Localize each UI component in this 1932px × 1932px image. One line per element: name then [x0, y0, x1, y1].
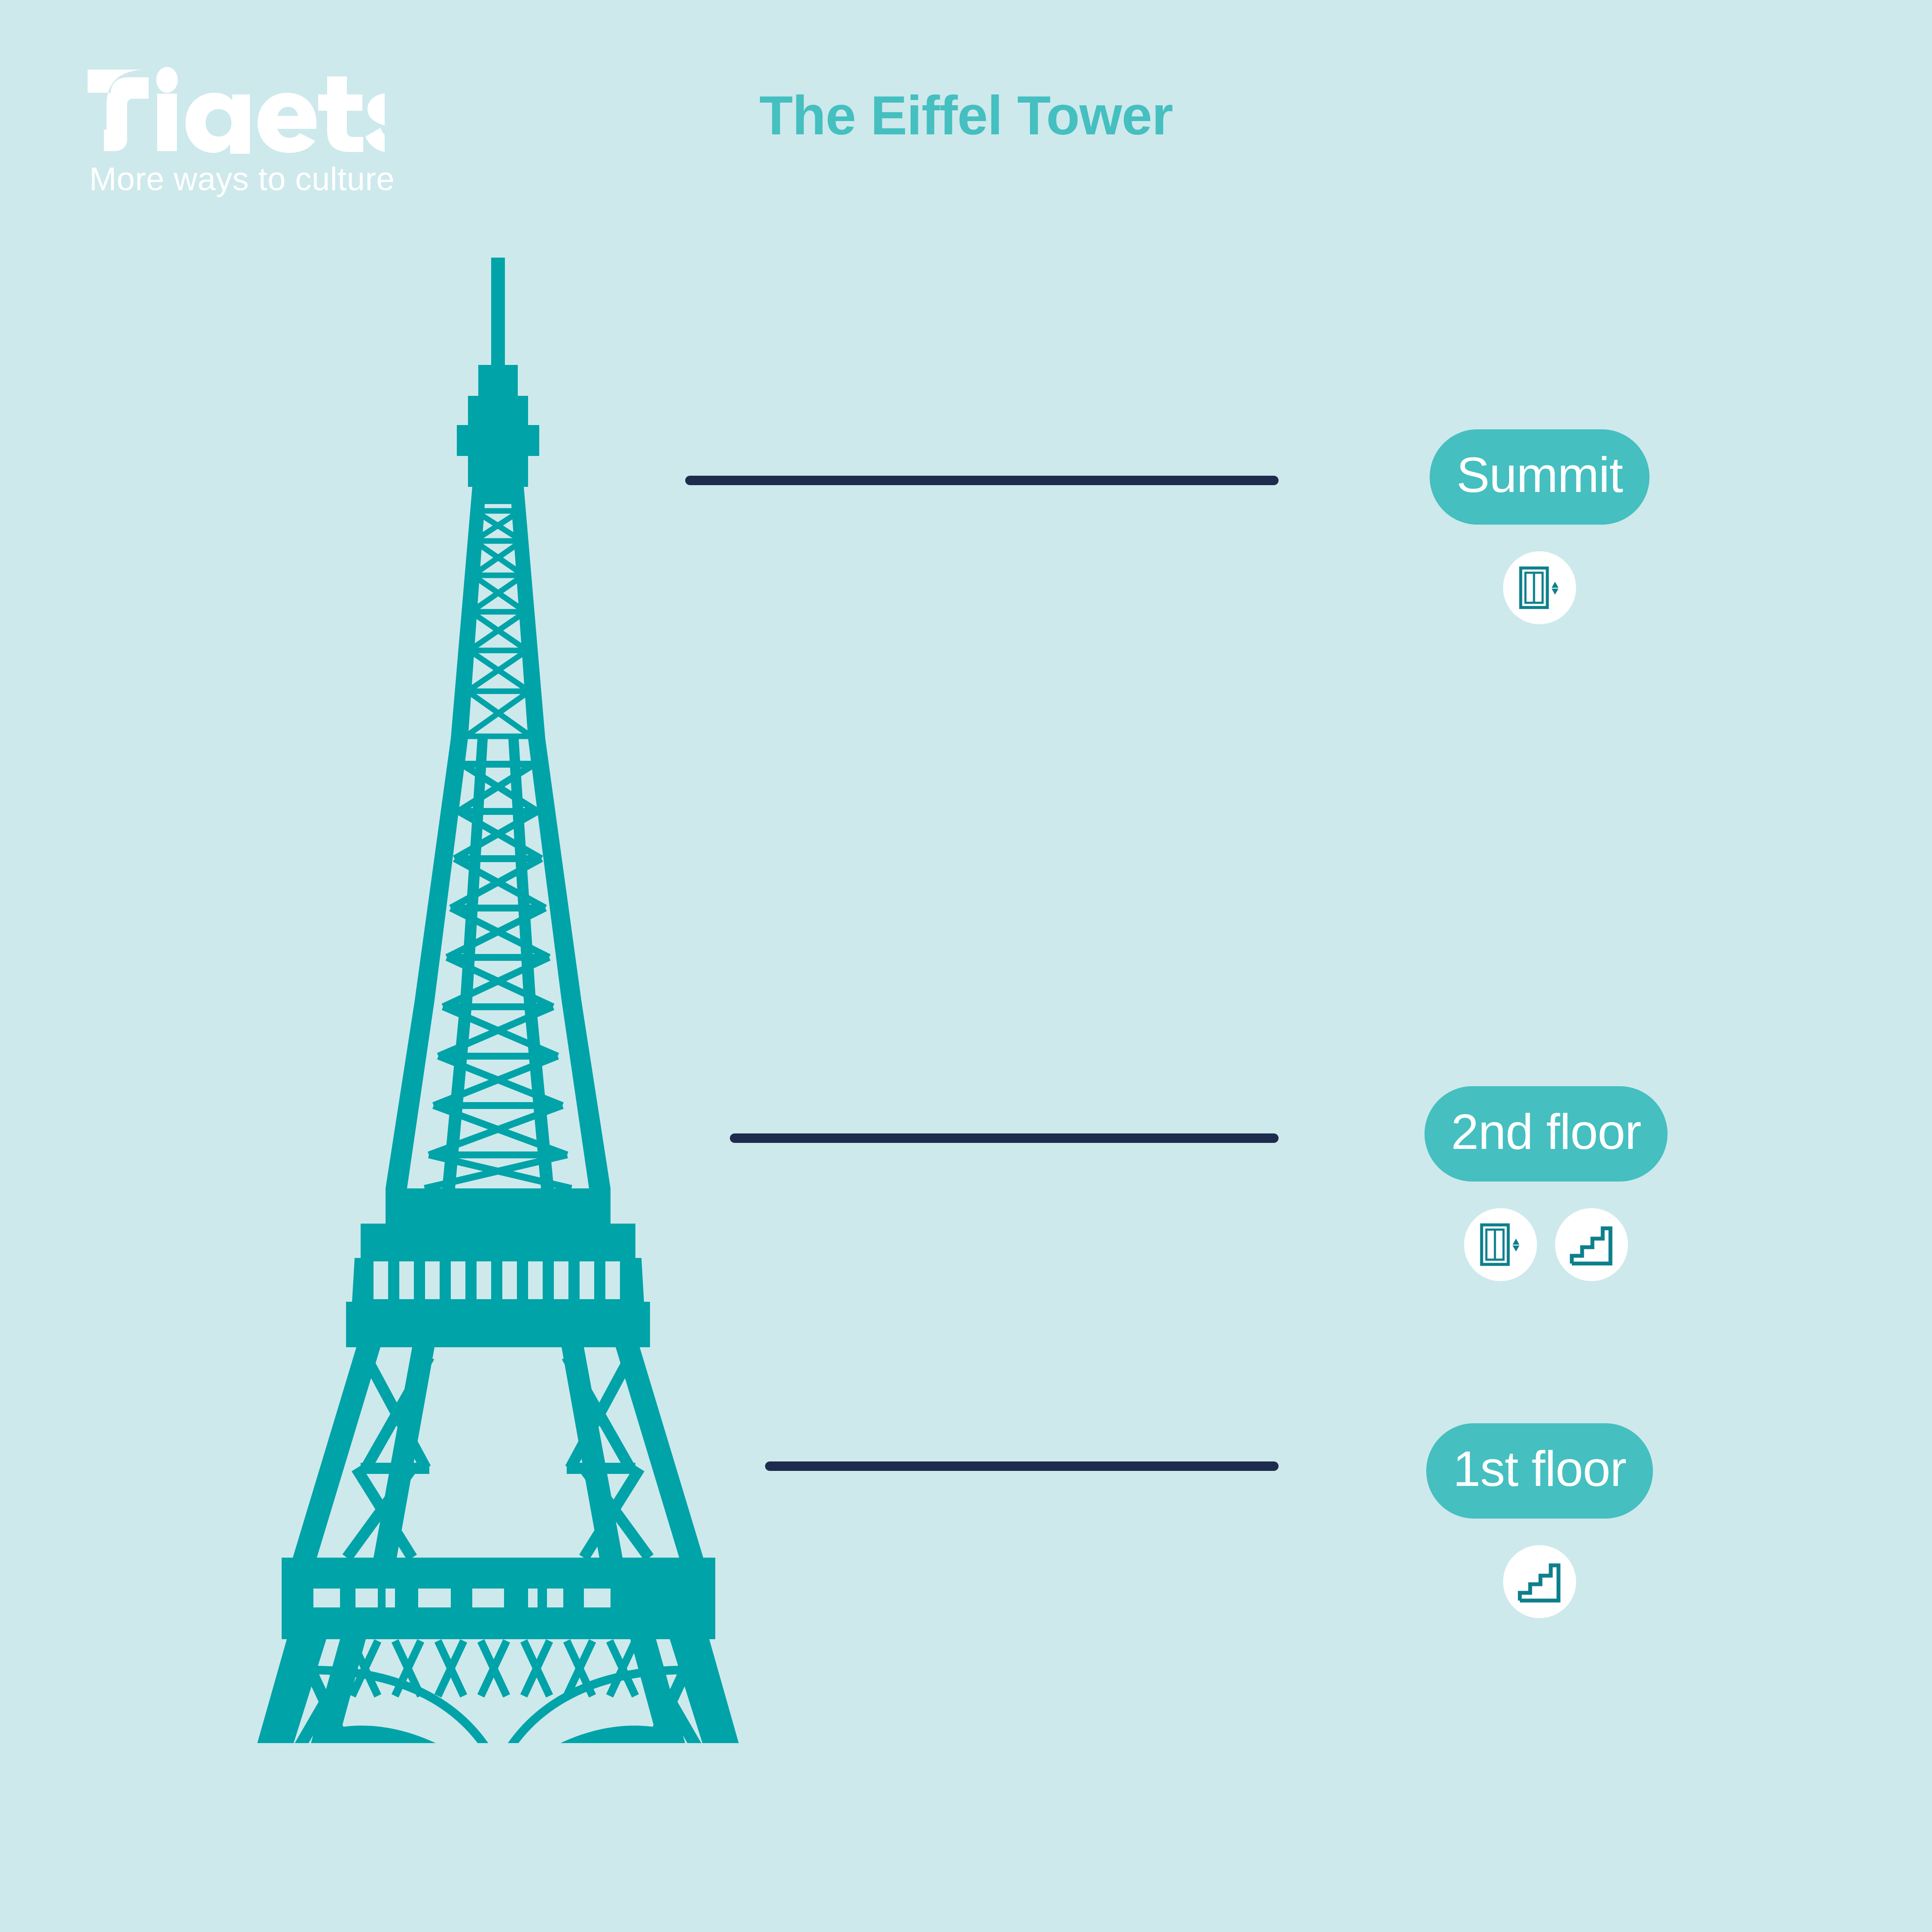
leader-line-2nd-floor [730, 1133, 1279, 1143]
stairs-icon [1514, 1556, 1565, 1607]
elevator-icon [1475, 1219, 1526, 1270]
access-icons-summit [1503, 551, 1576, 624]
elevator-icon [1514, 562, 1565, 614]
stairs-icon [1566, 1219, 1617, 1270]
elevator-icon-badge[interactable] [1503, 551, 1576, 624]
leader-line-1st-floor [765, 1461, 1279, 1471]
elevator-icon-badge[interactable] [1464, 1208, 1537, 1281]
access-icons-2nd-floor [1464, 1208, 1628, 1281]
brand-tagline: More ways to culture [89, 163, 471, 196]
leader-line-summit [685, 476, 1279, 485]
page-title: The Eiffel Tower [0, 86, 1932, 146]
level-label-summit[interactable]: Summit [1430, 429, 1649, 525]
level-group-summit: Summit [1368, 429, 1711, 624]
level-label-2nd-floor[interactable]: 2nd floor [1425, 1086, 1668, 1182]
access-icons-1st-floor [1503, 1545, 1576, 1618]
level-group-2nd-floor: 2nd floor [1368, 1086, 1724, 1281]
level-label-1st-floor[interactable]: 1st floor [1426, 1423, 1653, 1519]
level-group-1st-floor: 1st floor [1368, 1423, 1711, 1618]
stairs-icon-badge[interactable] [1555, 1208, 1628, 1281]
stairs-icon-badge[interactable] [1503, 1545, 1576, 1618]
